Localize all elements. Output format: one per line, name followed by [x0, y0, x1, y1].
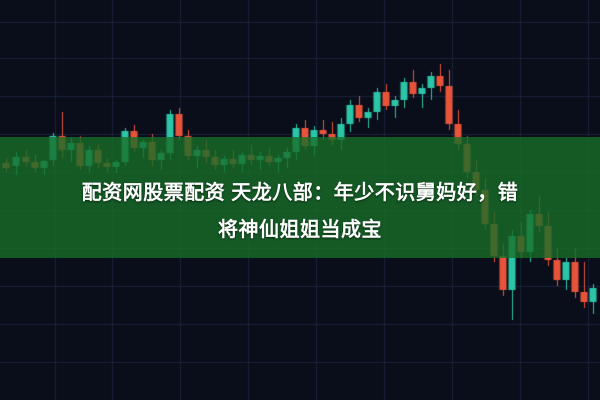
candlestick-chart-background	[0, 0, 600, 400]
screenshot-canvas: 配资网股票配资 天龙八部：年少不识舅妈好，错 将神仙姐姐当成宝	[0, 0, 600, 400]
